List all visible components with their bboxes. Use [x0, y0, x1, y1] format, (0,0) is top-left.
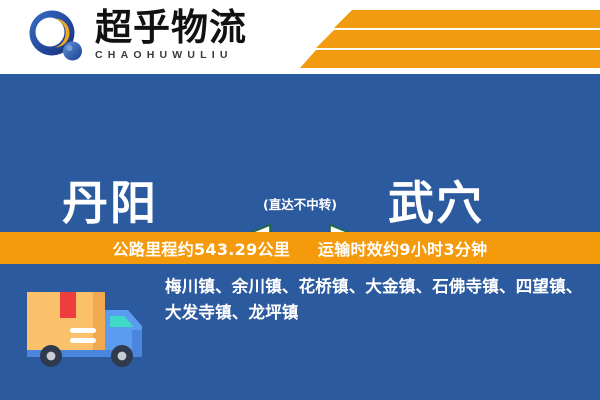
route-panel: 丹阳 (直达不中转) 【往返运输】 武穴 — [0, 74, 600, 232]
brand-lockup: 超乎物流 CHAOHUWULIU — [95, 8, 285, 66]
covered-towns-list: 梅川镇、余川镇、花桥镇、大金镇、石佛寺镇、四望镇、大发寺镇、龙坪镇 — [165, 274, 583, 326]
circle-crescent-logo-icon — [28, 10, 86, 64]
brand-name-cn: 超乎物流 — [95, 8, 285, 48]
direct-service-note: (直达不中转) — [236, 194, 364, 213]
speed-stripes-icon — [300, 4, 600, 68]
duration-label: 运输时效约9小时3分钟 — [318, 240, 488, 259]
route-info-text: 公路里程约543.29公里 运输时效约9小时3分钟 — [113, 236, 488, 260]
delivery-truck-icon — [22, 280, 152, 372]
distance-label: 公路里程约543.29公里 — [113, 240, 291, 259]
logistics-route-banner: 超乎物流 CHAOHUWULIU 丹阳 (直达不中转) 【往返运输】 武穴 — [0, 0, 600, 400]
header: 超乎物流 CHAOHUWULIU — [0, 0, 600, 74]
route-info-bar: 公路里程约543.29公里 运输时效约9小时3分钟 — [0, 232, 600, 264]
destination-city: 武穴 — [388, 167, 484, 233]
brand-name-en: CHAOHUWULIU — [95, 49, 285, 61]
coverage-panel: 梅川镇、余川镇、花桥镇、大金镇、石佛寺镇、四望镇、大发寺镇、龙坪镇 — [0, 264, 600, 400]
origin-city: 丹阳 — [62, 167, 158, 233]
